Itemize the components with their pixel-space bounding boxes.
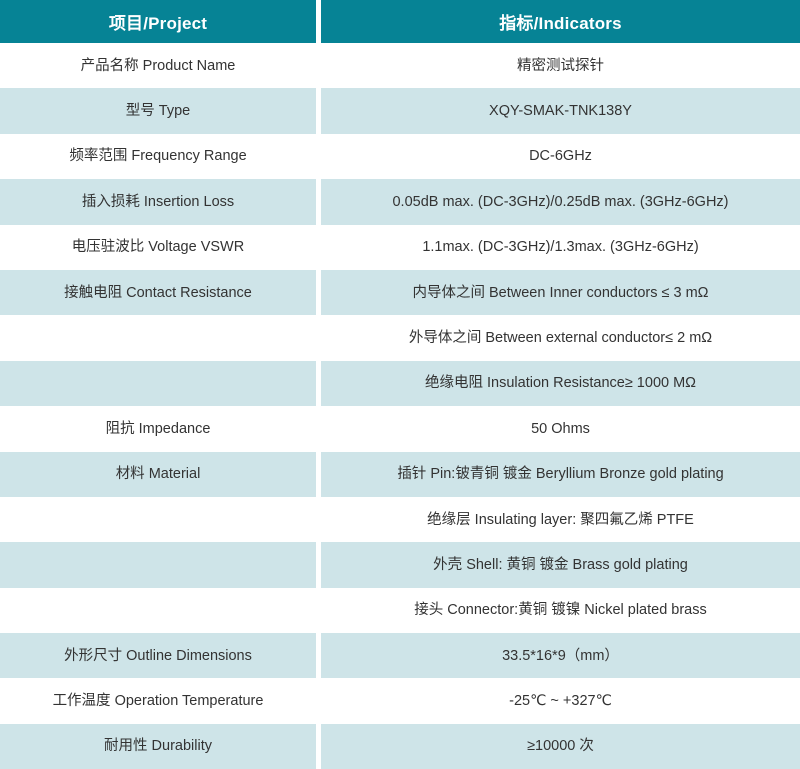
table-row: 绝缘层 Insulating layer: 聚四氟乙烯 PTFE xyxy=(0,497,800,542)
cell-project: 产品名称 Product Name xyxy=(0,43,316,88)
cell-indicator: 1.1max. (DC-3GHz)/1.3max. (3GHz-6GHz) xyxy=(321,225,800,270)
cell-project: 工作温度 Operation Temperature xyxy=(0,678,316,723)
table-row: 外形尺寸 Outline Dimensions33.5*16*9（mm） xyxy=(0,633,800,678)
cell-project xyxy=(0,588,316,633)
cell-project: 外形尺寸 Outline Dimensions xyxy=(0,633,316,678)
cell-project: 阻抗 Impedance xyxy=(0,406,316,451)
cell-indicator: 50 Ohms xyxy=(321,406,800,451)
table-row: 工作温度 Operation Temperature-25℃ ~ +327℃ xyxy=(0,678,800,723)
cell-project xyxy=(0,315,316,360)
table-row: 产品名称 Product Name精密测试探针 xyxy=(0,43,800,88)
table-row: 材料 Material插针 Pin:铍青铜 镀金 Beryllium Bronz… xyxy=(0,452,800,497)
table-header-row: 项目/Project 指标/Indicators xyxy=(0,0,800,43)
table-row: 阻抗 Impedance50 Ohms xyxy=(0,406,800,451)
cell-project: 接触电阻 Contact Resistance xyxy=(0,270,316,315)
table-row: 电压驻波比 Voltage VSWR1.1max. (DC-3GHz)/1.3m… xyxy=(0,225,800,270)
cell-project: 电压驻波比 Voltage VSWR xyxy=(0,225,316,270)
cell-project xyxy=(0,542,316,587)
cell-indicator: 精密测试探针 xyxy=(321,43,800,88)
cell-indicator: 绝缘层 Insulating layer: 聚四氟乙烯 PTFE xyxy=(321,497,800,542)
cell-indicator: 外壳 Shell: 黄铜 镀金 Brass gold plating xyxy=(321,542,800,587)
column-header-indicators: 指标/Indicators xyxy=(321,0,800,43)
column-header-project: 项目/Project xyxy=(0,0,316,43)
table-row: 型号 TypeXQY-SMAK-TNK138Y xyxy=(0,88,800,133)
cell-project: 插入损耗 Insertion Loss xyxy=(0,179,316,224)
table-row: 绝缘电阻 Insulation Resistance≥ 1000 MΩ xyxy=(0,361,800,406)
cell-project xyxy=(0,361,316,406)
cell-project: 耐用性 Durability xyxy=(0,724,316,769)
table-body: 产品名称 Product Name精密测试探针型号 TypeXQY-SMAK-T… xyxy=(0,43,800,769)
table-row: 耐用性 Durability≥10000 次 xyxy=(0,724,800,769)
cell-indicator: XQY-SMAK-TNK138Y xyxy=(321,88,800,133)
cell-project xyxy=(0,497,316,542)
cell-indicator: 0.05dB max. (DC-3GHz)/0.25dB max. (3GHz-… xyxy=(321,179,800,224)
cell-project: 频率范围 Frequency Range xyxy=(0,134,316,179)
cell-indicator: ≥10000 次 xyxy=(321,724,800,769)
cell-indicator: 33.5*16*9（mm） xyxy=(321,633,800,678)
table-row: 外导体之间 Between external conductor≤ 2 mΩ xyxy=(0,315,800,360)
cell-project: 材料 Material xyxy=(0,452,316,497)
cell-indicator: 内导体之间 Between Inner conductors ≤ 3 mΩ xyxy=(321,270,800,315)
cell-indicator: -25℃ ~ +327℃ xyxy=(321,678,800,723)
table-row: 插入损耗 Insertion Loss0.05dB max. (DC-3GHz)… xyxy=(0,179,800,224)
cell-indicator: 外导体之间 Between external conductor≤ 2 mΩ xyxy=(321,315,800,360)
table-row: 外壳 Shell: 黄铜 镀金 Brass gold plating xyxy=(0,542,800,587)
specification-table: 项目/Project 指标/Indicators 产品名称 Product Na… xyxy=(0,0,800,724)
cell-indicator: 接头 Connector:黄铜 镀镍 Nickel plated brass xyxy=(321,588,800,633)
cell-indicator: 绝缘电阻 Insulation Resistance≥ 1000 MΩ xyxy=(321,361,800,406)
table-row: 接头 Connector:黄铜 镀镍 Nickel plated brass xyxy=(0,588,800,633)
table-row: 接触电阻 Contact Resistance内导体之间 Between Inn… xyxy=(0,270,800,315)
table-row: 频率范围 Frequency RangeDC-6GHz xyxy=(0,134,800,179)
cell-indicator: DC-6GHz xyxy=(321,134,800,179)
cell-project: 型号 Type xyxy=(0,88,316,133)
cell-indicator: 插针 Pin:铍青铜 镀金 Beryllium Bronze gold plat… xyxy=(321,452,800,497)
